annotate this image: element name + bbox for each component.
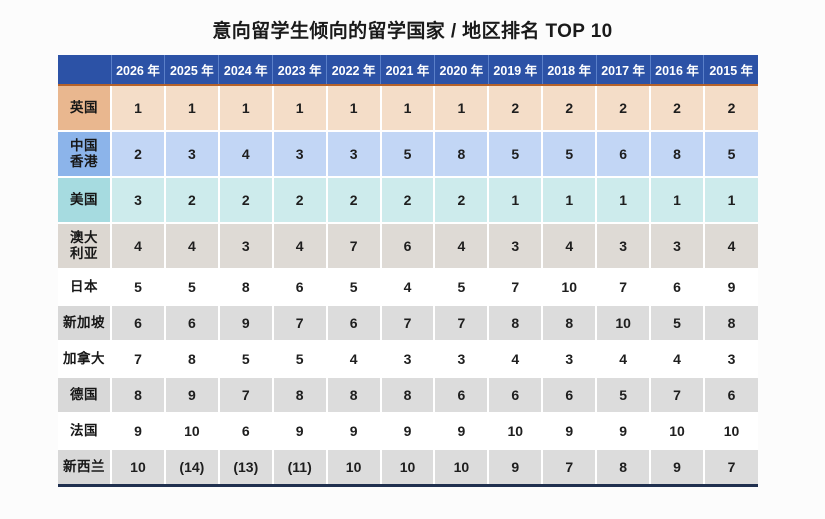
rank-cell: 6 [596,131,650,177]
ranking-table-container: 2026 年 2025 年 2024 年 2023 年 2022 年 2021 … [58,55,758,487]
rank-cell: 10 [165,413,219,449]
rank-cell: 5 [488,131,542,177]
rank-cell: 10 [650,413,704,449]
rank-cell: 5 [111,269,165,305]
table-row: 美国322222211111 [58,177,758,223]
rank-cell: 10 [434,449,488,486]
rank-cell: 4 [381,269,435,305]
row-label-line: 新西兰 [63,459,105,474]
rank-cell: 3 [488,223,542,269]
rank-cell: 7 [434,305,488,341]
rank-cell: 5 [596,377,650,413]
rank-cell: 5 [219,341,273,377]
rank-cell: 7 [650,377,704,413]
rank-cell: 8 [381,377,435,413]
rank-cell: 8 [434,131,488,177]
table-row: 新加坡6697677881058 [58,305,758,341]
rank-cell: 6 [381,223,435,269]
rank-cell: 9 [650,449,704,486]
rank-cell: 1 [327,85,381,131]
rank-cell: 5 [542,131,596,177]
corner-header-cell [58,55,111,85]
rank-cell: 5 [434,269,488,305]
rank-cell: 8 [273,377,327,413]
rank-cell: 2 [165,177,219,223]
row-label-line: 英国 [70,100,98,115]
rank-cell: 7 [704,449,758,486]
rank-cell: 9 [381,413,435,449]
table-row: 新西兰10(14)(13)(11)10101097897 [58,449,758,486]
rank-cell: 7 [488,269,542,305]
row-label-6: 新加坡 [58,305,111,341]
rank-cell: 3 [434,341,488,377]
rank-cell: 9 [165,377,219,413]
rank-cell: 1 [219,85,273,131]
rank-cell: 9 [219,305,273,341]
rank-cell: 2 [650,85,704,131]
row-label-7: 加拿大 [58,341,111,377]
rank-cell: 2 [111,131,165,177]
rank-cell: 4 [273,223,327,269]
rank-cell: 6 [165,305,219,341]
column-header-2021: 2021 年 [381,55,435,85]
rank-cell: 3 [111,177,165,223]
rank-cell: 8 [327,377,381,413]
rank-cell: 8 [219,269,273,305]
rank-cell: 4 [165,223,219,269]
rank-cell: 10 [704,413,758,449]
column-header-2016: 2016 年 [650,55,704,85]
rank-cell: 10 [596,305,650,341]
rank-cell: 4 [111,223,165,269]
row-label-line: 新加坡 [63,315,105,330]
rank-cell: 2 [273,177,327,223]
table-row: 中国香港234335855685 [58,131,758,177]
rank-cell: (13) [219,449,273,486]
rank-cell: 4 [650,341,704,377]
row-label-line: 香港 [70,154,98,169]
rank-cell: 1 [488,177,542,223]
rank-cell: 1 [381,85,435,131]
rank-cell: 2 [327,177,381,223]
rank-cell: 2 [381,177,435,223]
rank-cell: 9 [596,413,650,449]
rank-cell: 9 [111,413,165,449]
rank-cell: 9 [273,413,327,449]
row-label-4: 澳大利亚 [58,223,111,269]
rank-cell: 6 [434,377,488,413]
rank-cell: (11) [273,449,327,486]
row-label-1: 英国 [58,85,111,131]
column-header-2024: 2024 年 [219,55,273,85]
rank-cell: 3 [273,131,327,177]
table-row: 加拿大785543343443 [58,341,758,377]
rank-cell: 1 [434,85,488,131]
rank-cell: 8 [704,305,758,341]
column-header-2019: 2019 年 [488,55,542,85]
table-row: 德国897888666576 [58,377,758,413]
rank-cell: 3 [165,131,219,177]
rank-cell: 7 [273,305,327,341]
rank-cell: 4 [542,223,596,269]
rank-cell: 4 [596,341,650,377]
column-header-2017: 2017 年 [596,55,650,85]
rank-cell: 9 [704,269,758,305]
table-body: 英国111111122222中国香港234335855685美国32222221… [58,85,758,486]
rank-cell: 8 [488,305,542,341]
rank-cell: 6 [650,269,704,305]
ranking-table: 2026 年 2025 年 2024 年 2023 年 2022 年 2021 … [58,55,758,487]
table-row: 日本5586545710769 [58,269,758,305]
rank-cell: 2 [219,177,273,223]
rank-cell: 5 [327,269,381,305]
rank-cell: 7 [542,449,596,486]
rank-cell: 6 [111,305,165,341]
rank-cell: 1 [704,177,758,223]
rank-cell: 2 [488,85,542,131]
column-header-2018: 2018 年 [542,55,596,85]
column-header-2026: 2026 年 [111,55,165,85]
rank-cell: 7 [111,341,165,377]
rank-cell: 5 [165,269,219,305]
rank-cell: 1 [273,85,327,131]
column-header-2025: 2025 年 [165,55,219,85]
rank-cell: 2 [434,177,488,223]
row-label-line: 澳大 [70,230,98,245]
column-header-2015: 2015 年 [704,55,758,85]
rank-cell: 3 [381,341,435,377]
rank-cell: 10 [542,269,596,305]
row-label-10: 新西兰 [58,449,111,486]
rank-cell: 7 [381,305,435,341]
rank-cell: 6 [273,269,327,305]
rank-cell: 9 [488,449,542,486]
table-header: 2026 年 2025 年 2024 年 2023 年 2022 年 2021 … [58,55,758,85]
rank-cell: 10 [111,449,165,486]
rank-cell: 4 [434,223,488,269]
row-label-line: 德国 [70,387,98,402]
table-row: 法国9106999910991010 [58,413,758,449]
rank-cell: 1 [542,177,596,223]
rank-cell: 1 [111,85,165,131]
row-label-9: 法国 [58,413,111,449]
column-header-2022: 2022 年 [327,55,381,85]
rank-cell: 6 [219,413,273,449]
rank-cell: 3 [542,341,596,377]
row-label-line: 美国 [70,192,98,207]
rank-cell: 4 [488,341,542,377]
rank-cell: 6 [327,305,381,341]
row-label-line: 日本 [70,279,98,294]
rank-cell: 5 [704,131,758,177]
rank-cell: 3 [650,223,704,269]
rank-cell: 2 [596,85,650,131]
rank-cell: 5 [273,341,327,377]
column-header-2023: 2023 年 [273,55,327,85]
rank-cell: 3 [704,341,758,377]
rank-cell: 6 [704,377,758,413]
rank-cell: 2 [542,85,596,131]
rank-cell: 4 [327,341,381,377]
rank-cell: 7 [327,223,381,269]
row-label-8: 德国 [58,377,111,413]
rank-cell: 1 [650,177,704,223]
rank-cell: 10 [488,413,542,449]
rank-cell: 8 [165,341,219,377]
rank-cell: 2 [704,85,758,131]
rank-cell: 1 [165,85,219,131]
rank-cell: 5 [381,131,435,177]
rank-cell: 6 [542,377,596,413]
row-label-5: 日本 [58,269,111,305]
rank-cell: 8 [650,131,704,177]
rank-cell: 4 [219,131,273,177]
rank-cell: (14) [165,449,219,486]
rank-cell: 9 [542,413,596,449]
row-label-line: 利亚 [70,246,98,261]
column-header-2020: 2020 年 [434,55,488,85]
row-label-3: 美国 [58,177,111,223]
rank-cell: 7 [219,377,273,413]
rank-cell: 8 [596,449,650,486]
table-row: 澳大利亚443476434334 [58,223,758,269]
rank-cell: 9 [327,413,381,449]
rank-cell: 10 [327,449,381,486]
rank-cell: 10 [381,449,435,486]
table-row: 英国111111122222 [58,85,758,131]
rank-cell: 3 [219,223,273,269]
rank-cell: 1 [596,177,650,223]
row-label-line: 加拿大 [63,351,105,366]
row-label-line: 中国 [70,138,98,153]
rank-cell: 7 [596,269,650,305]
rank-cell: 5 [650,305,704,341]
page-title: 意向留学生倾向的留学国家 / 地区排名 TOP 10 [0,16,825,43]
rank-cell: 8 [542,305,596,341]
header-row: 2026 年 2025 年 2024 年 2023 年 2022 年 2021 … [58,55,758,85]
rank-cell: 8 [111,377,165,413]
rank-cell: 4 [704,223,758,269]
rank-cell: 3 [596,223,650,269]
row-label-line: 法国 [70,423,98,438]
rank-cell: 9 [434,413,488,449]
row-label-2: 中国香港 [58,131,111,177]
rank-cell: 6 [488,377,542,413]
rank-cell: 3 [327,131,381,177]
